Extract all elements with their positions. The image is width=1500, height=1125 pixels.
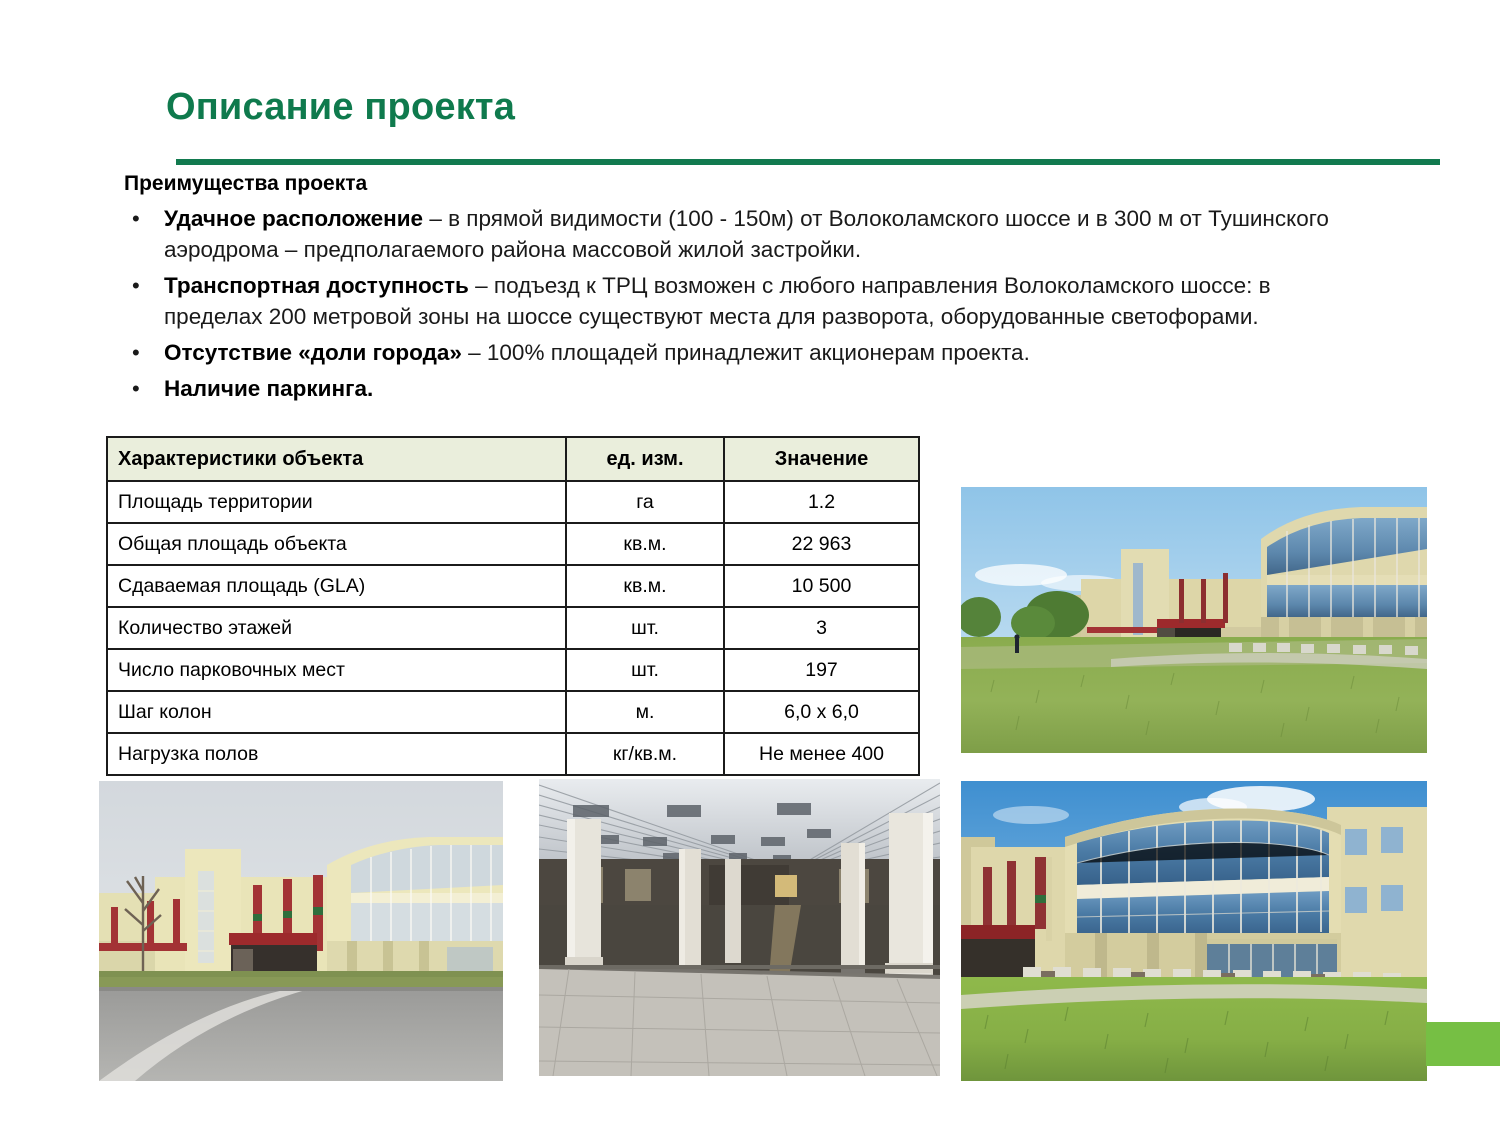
cell-characteristic: Число парковочных мест xyxy=(107,649,566,691)
table-header-row: Характеристики объекта ед. изм. Значение xyxy=(107,437,919,481)
cell-value: 3 xyxy=(724,607,919,649)
cell-unit: м. xyxy=(566,691,724,733)
accent-block-decoration xyxy=(1426,1022,1500,1066)
page-title: Описание проекта xyxy=(166,86,515,129)
cell-value: 10 500 xyxy=(724,565,919,607)
bullet-dot-icon: • xyxy=(132,203,140,234)
list-item-label: Удачное расположение xyxy=(164,206,423,231)
cell-characteristic: Общая площадь объекта xyxy=(107,523,566,565)
cell-characteristic: Количество этажей xyxy=(107,607,566,649)
cell-unit: шт. xyxy=(566,649,724,691)
photo-main-entrance-glass-facade xyxy=(961,781,1427,1081)
bullet-dot-icon: • xyxy=(132,373,140,404)
cell-value: 1.2 xyxy=(724,481,919,523)
column-header-unit: ед. изм. xyxy=(566,437,724,481)
slide-canvas: Описание проекта Преимущества проекта • … xyxy=(0,0,1500,1125)
table-row: Число парковочных мест шт. 197 xyxy=(107,649,919,691)
table-row: Количество этажей шт. 3 xyxy=(107,607,919,649)
column-header-value: Значение xyxy=(724,437,919,481)
list-item: • Наличие паркинга. xyxy=(124,373,1334,404)
list-item: • Транспортная доступность – подъезд к Т… xyxy=(124,270,1334,332)
section-subheading: Преимущества проекта xyxy=(124,172,367,196)
column-header-characteristic: Характеристики объекта xyxy=(107,437,566,481)
cell-value: 22 963 xyxy=(724,523,919,565)
bullet-dot-icon: • xyxy=(132,337,140,368)
table-row: Шаг колон м. 6,0 х 6,0 xyxy=(107,691,919,733)
list-item-label: Транспортная доступность xyxy=(164,273,469,298)
cell-characteristic: Шаг колон xyxy=(107,691,566,733)
cell-value: Не менее 400 xyxy=(724,733,919,775)
list-item: • Отсутствие «доли города» – 100% площад… xyxy=(124,337,1334,368)
table-row: Общая площадь объекта кв.м. 22 963 xyxy=(107,523,919,565)
object-specifications-table: Характеристики объекта ед. изм. Значение… xyxy=(106,436,920,776)
cell-characteristic: Нагрузка полов xyxy=(107,733,566,775)
photo-exterior-road-overcast xyxy=(99,781,503,1081)
bullet-dot-icon: • xyxy=(132,270,140,301)
photo-exterior-lawn-sunny xyxy=(961,487,1427,753)
cell-characteristic: Площадь территории xyxy=(107,481,566,523)
photo-interior-hall-columns xyxy=(539,779,940,1076)
list-item-label: Наличие паркинга. xyxy=(164,376,373,401)
cell-value: 197 xyxy=(724,649,919,691)
title-divider-rule xyxy=(176,159,1440,165)
list-item-text: – 100% площадей принадлежит акционерам п… xyxy=(462,340,1030,365)
cell-unit: шт. xyxy=(566,607,724,649)
advantages-list: • Удачное расположение – в прямой видимо… xyxy=(124,203,1334,409)
cell-value: 6,0 х 6,0 xyxy=(724,691,919,733)
cell-unit: кг/кв.м. xyxy=(566,733,724,775)
list-item: • Удачное расположение – в прямой видимо… xyxy=(124,203,1334,265)
table-row: Нагрузка полов кг/кв.м. Не менее 400 xyxy=(107,733,919,775)
cell-unit: кв.м. xyxy=(566,565,724,607)
cell-characteristic: Сдаваемая площадь (GLA) xyxy=(107,565,566,607)
table-row: Сдаваемая площадь (GLA) кв.м. 10 500 xyxy=(107,565,919,607)
list-item-label: Отсутствие «доли города» xyxy=(164,340,462,365)
cell-unit: га xyxy=(566,481,724,523)
table-row: Площадь территории га 1.2 xyxy=(107,481,919,523)
cell-unit: кв.м. xyxy=(566,523,724,565)
